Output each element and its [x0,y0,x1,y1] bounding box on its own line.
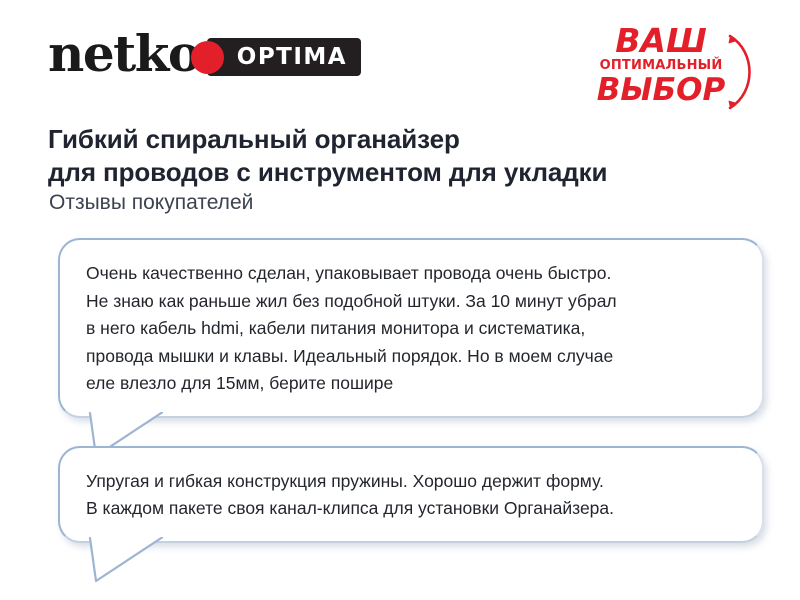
choice-badge-line-top: ВАШ [590,24,732,58]
review-bubble: Очень качественно сделан, упаковывает пр… [58,238,764,418]
choice-badge-text: ВАШ ОПТИМАЛЬНЫЙ ВЫБОР [590,24,732,107]
review-item: Упругая и гибкая конструкция пружины. Хо… [58,446,764,543]
review-bubble: Упругая и гибкая конструкция пружины. Хо… [58,446,764,543]
page-title-line-1: Гибкий спиральный органайзер [48,123,748,156]
speech-bubble-tail-icon [88,537,166,583]
reviews-list: Очень качественно сделан, упаковывает пр… [0,238,800,543]
optima-badge-label: OPTIMA [237,44,347,70]
product-review-page: { "brand": { "logo_word": "netko", "logo… [0,0,800,600]
netko-logo: netko OPTIMA [48,26,361,82]
choice-badge-line-bottom: ВЫБОР [590,74,732,107]
review-item: Очень качественно сделан, упаковывает пр… [58,238,764,418]
reviews-section-heading: Отзывы покупателей [49,190,253,216]
optima-badge: OPTIMA [207,38,361,76]
your-optimal-choice-badge: ВАШ ОПТИМАЛЬНЫЙ ВЫБОР [590,24,772,110]
review-text: Очень качественно сделан, упаковывает пр… [86,260,736,398]
review-text: Упругая и гибкая конструкция пружины. Хо… [86,468,736,523]
double-headed-curved-arrow-icon [720,26,766,118]
page-title-line-2: для проводов с инструментом для укладки [48,156,748,189]
page-title: Гибкий спиральный органайзер для проводо… [48,123,748,189]
red-circle-dot-icon [191,41,224,74]
header-brand-row: netko OPTIMA ВАШ ОПТИМАЛЬНЫЙ ВЫБОР [0,0,800,108]
netko-wordmark: netko [48,29,200,79]
